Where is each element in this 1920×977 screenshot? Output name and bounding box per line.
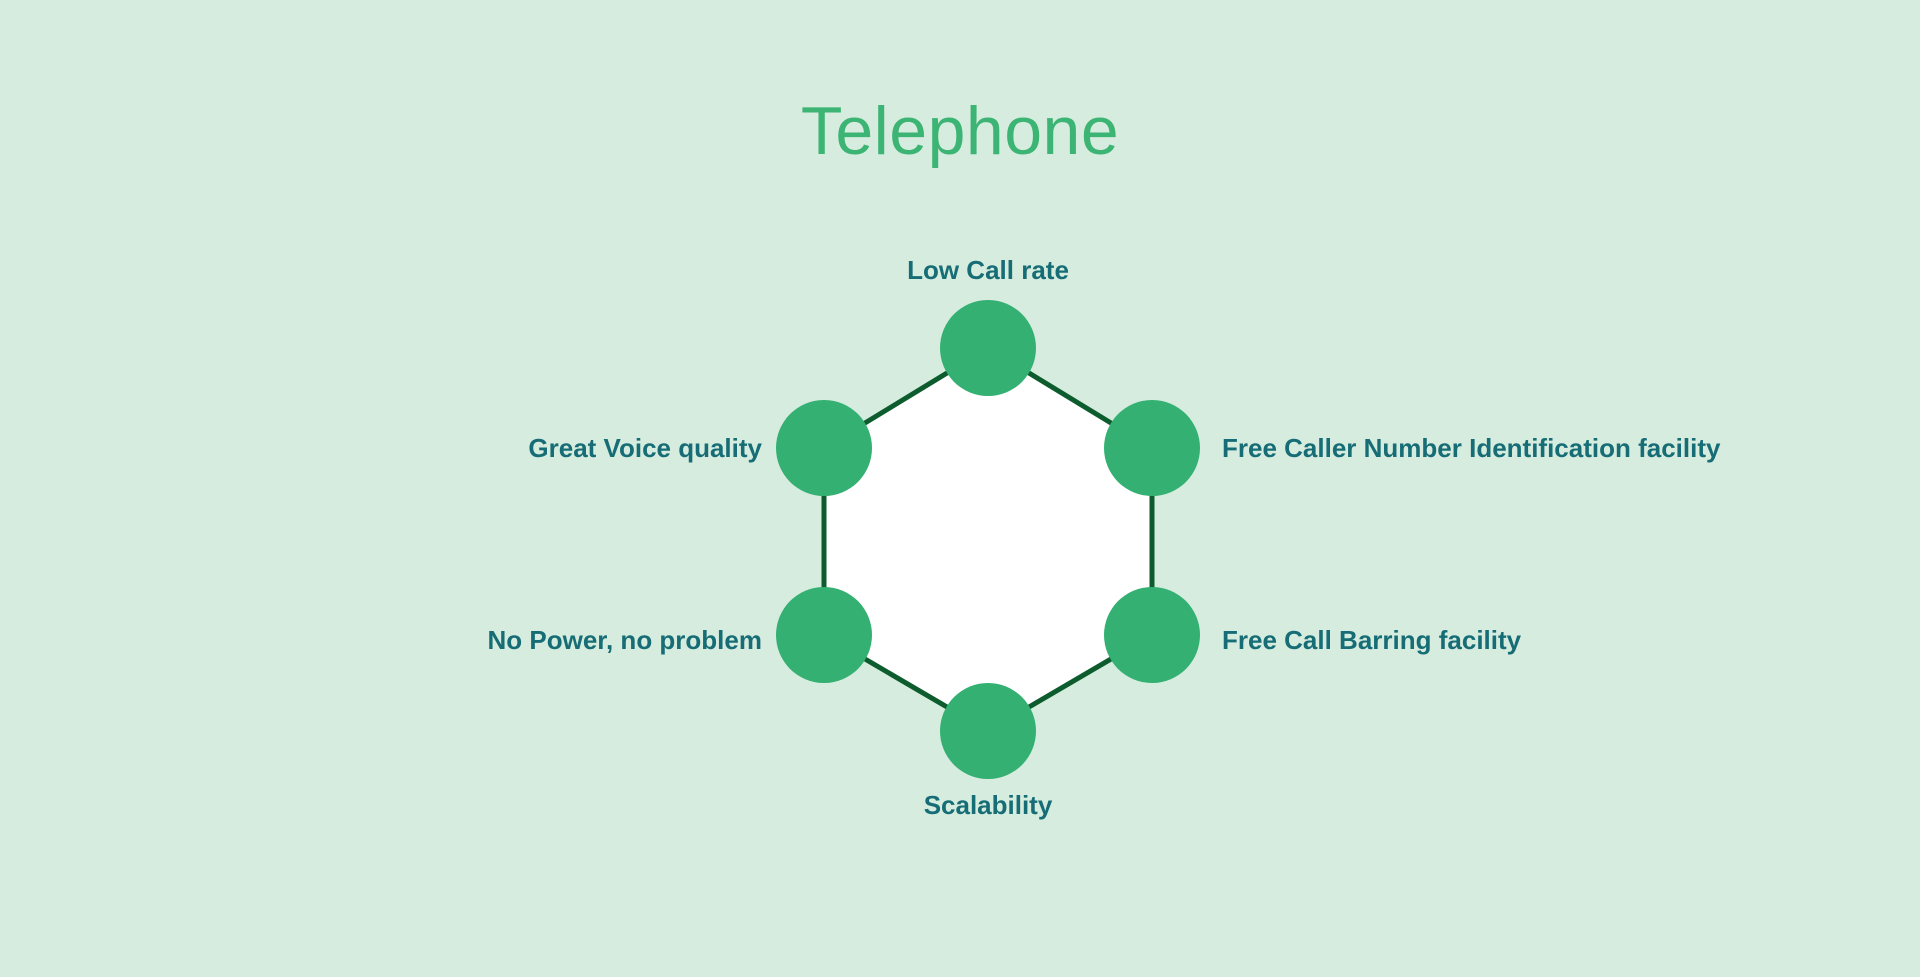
node-label-great-voice-quality: Great Voice quality [528, 433, 762, 463]
node-dot-group [776, 300, 1200, 779]
node-dot-low-call-rate[interactable] [940, 300, 1036, 396]
node-dot-great-voice-quality[interactable] [776, 400, 872, 496]
node-label-free-call-barring-facility: Free Call Barring facility [1222, 625, 1521, 655]
node-dot-free-caller-number-identification-facility[interactable] [1104, 400, 1200, 496]
page-title: Telephone [0, 92, 1920, 170]
node-dot-free-call-barring-facility[interactable] [1104, 587, 1200, 683]
node-label-no-power-no-problem: No Power, no problem [488, 625, 762, 655]
node-label-free-caller-number-identification-facility: Free Caller Number Identification facili… [1222, 433, 1720, 463]
node-dot-scalability[interactable] [940, 683, 1036, 779]
node-label-low-call-rate: Low Call rate [907, 255, 1069, 285]
node-label-scalability: Scalability [924, 790, 1053, 820]
slide-canvas: Telephone Low Call rateFree Caller Numbe… [0, 0, 1920, 977]
hexagon-outline [824, 348, 1152, 731]
hexagon-fill [824, 348, 1152, 731]
node-dot-no-power-no-problem[interactable] [776, 587, 872, 683]
